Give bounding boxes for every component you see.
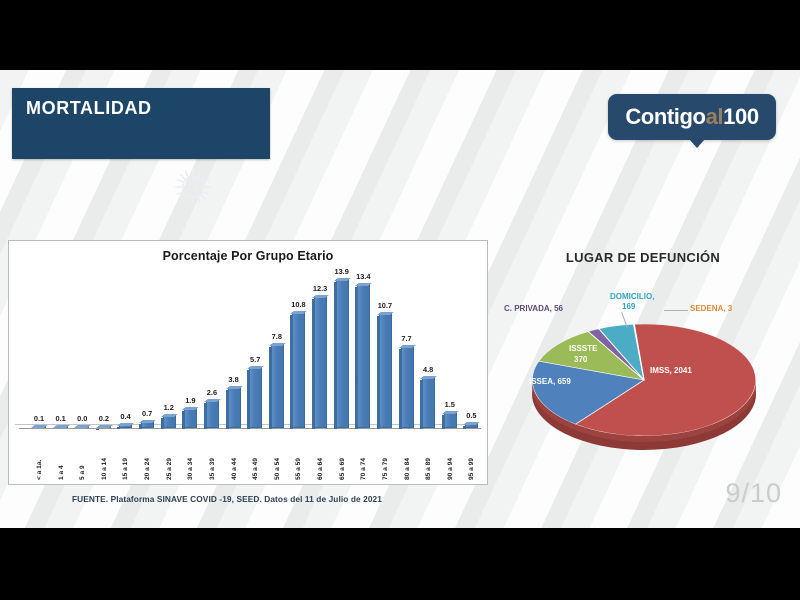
x-axis-label: 10 a 14 bbox=[101, 434, 108, 480]
pie-leader-line-sedena bbox=[664, 310, 688, 311]
x-axis-label: 20 a 24 bbox=[144, 434, 151, 480]
pie-label-sedena: SEDENA, 3 bbox=[690, 304, 732, 313]
bar-value-label: 10.8 bbox=[283, 300, 313, 309]
x-axis-label: 40 a 44 bbox=[231, 434, 238, 480]
logo-part-contigo: Contigo bbox=[625, 104, 705, 129]
x-axis-label: 75 a 79 bbox=[382, 434, 389, 480]
slide-canvas: MORTALIDAD Contigoal100 bbox=[0, 70, 800, 528]
bar-value-label: 7.8 bbox=[262, 332, 292, 341]
x-axis-label: 50 a 54 bbox=[274, 434, 281, 480]
pie-label-c-privada: C. PRIVADA, 56 bbox=[504, 304, 563, 313]
x-axis-label: 60 a 64 bbox=[317, 434, 324, 480]
bar bbox=[228, 387, 241, 428]
pie-label-domicilio-line1: DOMICILIO, bbox=[610, 292, 654, 301]
slide-viewer: MORTALIDAD Contigoal100 bbox=[0, 0, 800, 600]
page-indicator: 9/10 bbox=[725, 478, 782, 509]
pie-label-imss: IMSS, 2041 bbox=[650, 366, 692, 375]
x-axis-label: 95 a 99 bbox=[468, 434, 475, 480]
x-axis-label: 70 a 74 bbox=[360, 434, 367, 480]
bar bbox=[444, 412, 457, 428]
bar-value-label: 10.7 bbox=[370, 301, 400, 310]
bar bbox=[98, 426, 111, 428]
bar bbox=[314, 296, 327, 428]
pie-label-domicilio-line2: 169 bbox=[622, 302, 635, 311]
bar bbox=[422, 377, 435, 428]
bar bbox=[163, 415, 176, 428]
bar bbox=[336, 279, 349, 428]
coronavirus-icon bbox=[172, 166, 214, 208]
bar-value-label: 7.7 bbox=[392, 334, 422, 343]
bar-value-label: 5.7 bbox=[240, 355, 270, 364]
x-axis-label: 30 a 34 bbox=[187, 434, 194, 480]
bar bbox=[33, 426, 46, 428]
x-axis-label: 90 a 94 bbox=[447, 434, 454, 480]
x-axis-label: 25 a 29 bbox=[166, 434, 173, 480]
bar bbox=[55, 426, 68, 428]
pie-chart-plot: C. PRIVADA, 56 DOMICILIO, 169 SEDENA, 3 … bbox=[512, 298, 774, 468]
x-axis-label: 35 a 39 bbox=[209, 434, 216, 480]
x-axis-label: 1 a 4 bbox=[58, 434, 65, 480]
bar bbox=[249, 367, 262, 428]
pie-chart-panel: LUGAR DE DEFUNCIÓN C. PRIVADA, 56 DOMICI… bbox=[494, 240, 792, 483]
bar bbox=[292, 312, 305, 428]
x-axis-label: 15 a 19 bbox=[122, 434, 129, 480]
bar-value-label: 0.5 bbox=[456, 411, 486, 420]
bar-value-label: 2.6 bbox=[197, 388, 227, 397]
pie-label-issea: ISSEA, 659 bbox=[529, 377, 571, 386]
bar bbox=[401, 346, 414, 429]
source-footnote: FUENTE. Plataforma SINAVE COVID -19, SEE… bbox=[72, 494, 382, 504]
bar-value-label: 4.8 bbox=[413, 365, 443, 374]
bar-value-label: 12.3 bbox=[305, 284, 335, 293]
x-axis-label: 55 a 59 bbox=[295, 434, 302, 480]
bar bbox=[184, 408, 197, 428]
pie-label-issste-line2: 370 bbox=[574, 355, 587, 364]
page-title: MORTALIDAD bbox=[26, 98, 152, 119]
bar bbox=[465, 423, 478, 428]
brand-logo: Contigoal100 bbox=[608, 94, 776, 140]
bar bbox=[119, 424, 132, 428]
bar bbox=[271, 344, 284, 428]
brand-logo-text: Contigoal100 bbox=[625, 104, 758, 130]
bar bbox=[357, 284, 370, 428]
bar-chart-panel: Porcentaje Por Grupo Etario 0.10.10.00.2… bbox=[8, 240, 488, 485]
bar bbox=[206, 400, 219, 428]
x-axis-label: 45 a 49 bbox=[252, 434, 259, 480]
bar bbox=[76, 426, 89, 428]
bar-value-label: 13.4 bbox=[348, 272, 378, 281]
bar-value-label: 3.8 bbox=[219, 375, 249, 384]
pie-label-issste-line1: ISSSTE bbox=[569, 344, 597, 353]
x-axis-label: 85 a 89 bbox=[425, 434, 432, 480]
x-axis-label: 5 a 9 bbox=[79, 434, 86, 480]
x-axis-label: < a 1a. bbox=[36, 434, 43, 480]
bar-value-label: 1.5 bbox=[435, 400, 465, 409]
x-axis-label: 80 a 84 bbox=[404, 434, 411, 480]
pie-chart-title: LUGAR DE DEFUNCIÓN bbox=[494, 250, 792, 265]
bar bbox=[141, 421, 154, 429]
logo-part-100: 100 bbox=[723, 104, 759, 129]
bar-chart-plot: 0.10.10.00.20.40.71.21.92.63.85.77.810.8… bbox=[23, 275, 477, 428]
x-axis-label: 65 a 69 bbox=[339, 434, 346, 480]
bar-chart-title: Porcentaje Por Grupo Etario bbox=[9, 249, 487, 263]
logo-part-al: al bbox=[706, 104, 724, 129]
bar bbox=[379, 313, 392, 428]
